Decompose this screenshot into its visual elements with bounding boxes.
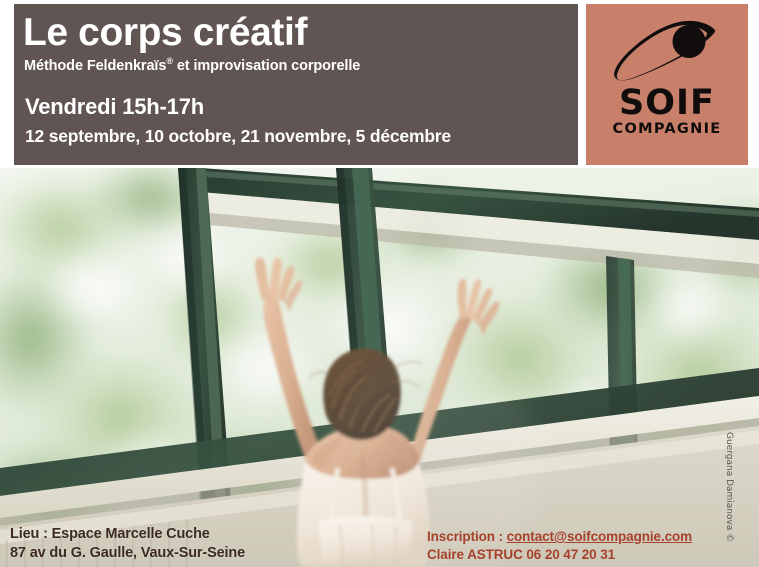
eye-teardrop-icon <box>613 20 721 84</box>
subtitle-rest: et improvisation corporelle <box>173 58 360 74</box>
schedule-dates: 12 septembre, 10 octobre, 21 novembre, 5… <box>25 126 571 147</box>
inscription-label: Inscription : <box>427 529 507 544</box>
email-link[interactable]: contact@soifcompagnie.com <box>507 529 692 544</box>
logo-block: SOIF COMPAGNIE <box>586 4 748 165</box>
poster-subtitle: Méthode Feldenkraïs® et improvisation co… <box>24 57 571 76</box>
subtitle-method: Méthode Feldenkraïs <box>24 58 166 74</box>
logo-wordmark: SOIF COMPAGNIE <box>586 86 748 138</box>
page-title: Le corps créatif <box>23 10 571 56</box>
photo-window-dancer <box>0 168 759 567</box>
photo-credit: Guergana Damianova © <box>724 432 734 542</box>
venue-block: Lieu : Espace Marcelle Cuche 87 av du G.… <box>10 525 245 563</box>
logo-name: SOIF <box>586 86 748 120</box>
poster-root: Le corps créatif Méthode Feldenkraïs® et… <box>0 0 759 567</box>
contact-person-phone: Claire ASTRUC 06 20 47 20 31 <box>427 546 692 564</box>
header-band: Le corps créatif Méthode Feldenkraïs® et… <box>14 4 578 165</box>
inscription-line: Inscription : contact@soifcompagnie.com <box>427 528 692 546</box>
contact-block: Inscription : contact@soifcompagnie.com … <box>427 528 692 564</box>
logo-tagline: COMPAGNIE <box>586 121 748 138</box>
schedule-day-time: Vendredi 15h-17h <box>25 94 571 120</box>
venue-line-1: Lieu : Espace Marcelle Cuche <box>10 525 245 544</box>
venue-line-2: 87 av du G. Gaulle, Vaux-Sur-Seine <box>10 544 245 563</box>
title-block: Le corps créatif Méthode Feldenkraïs® et… <box>23 10 571 147</box>
